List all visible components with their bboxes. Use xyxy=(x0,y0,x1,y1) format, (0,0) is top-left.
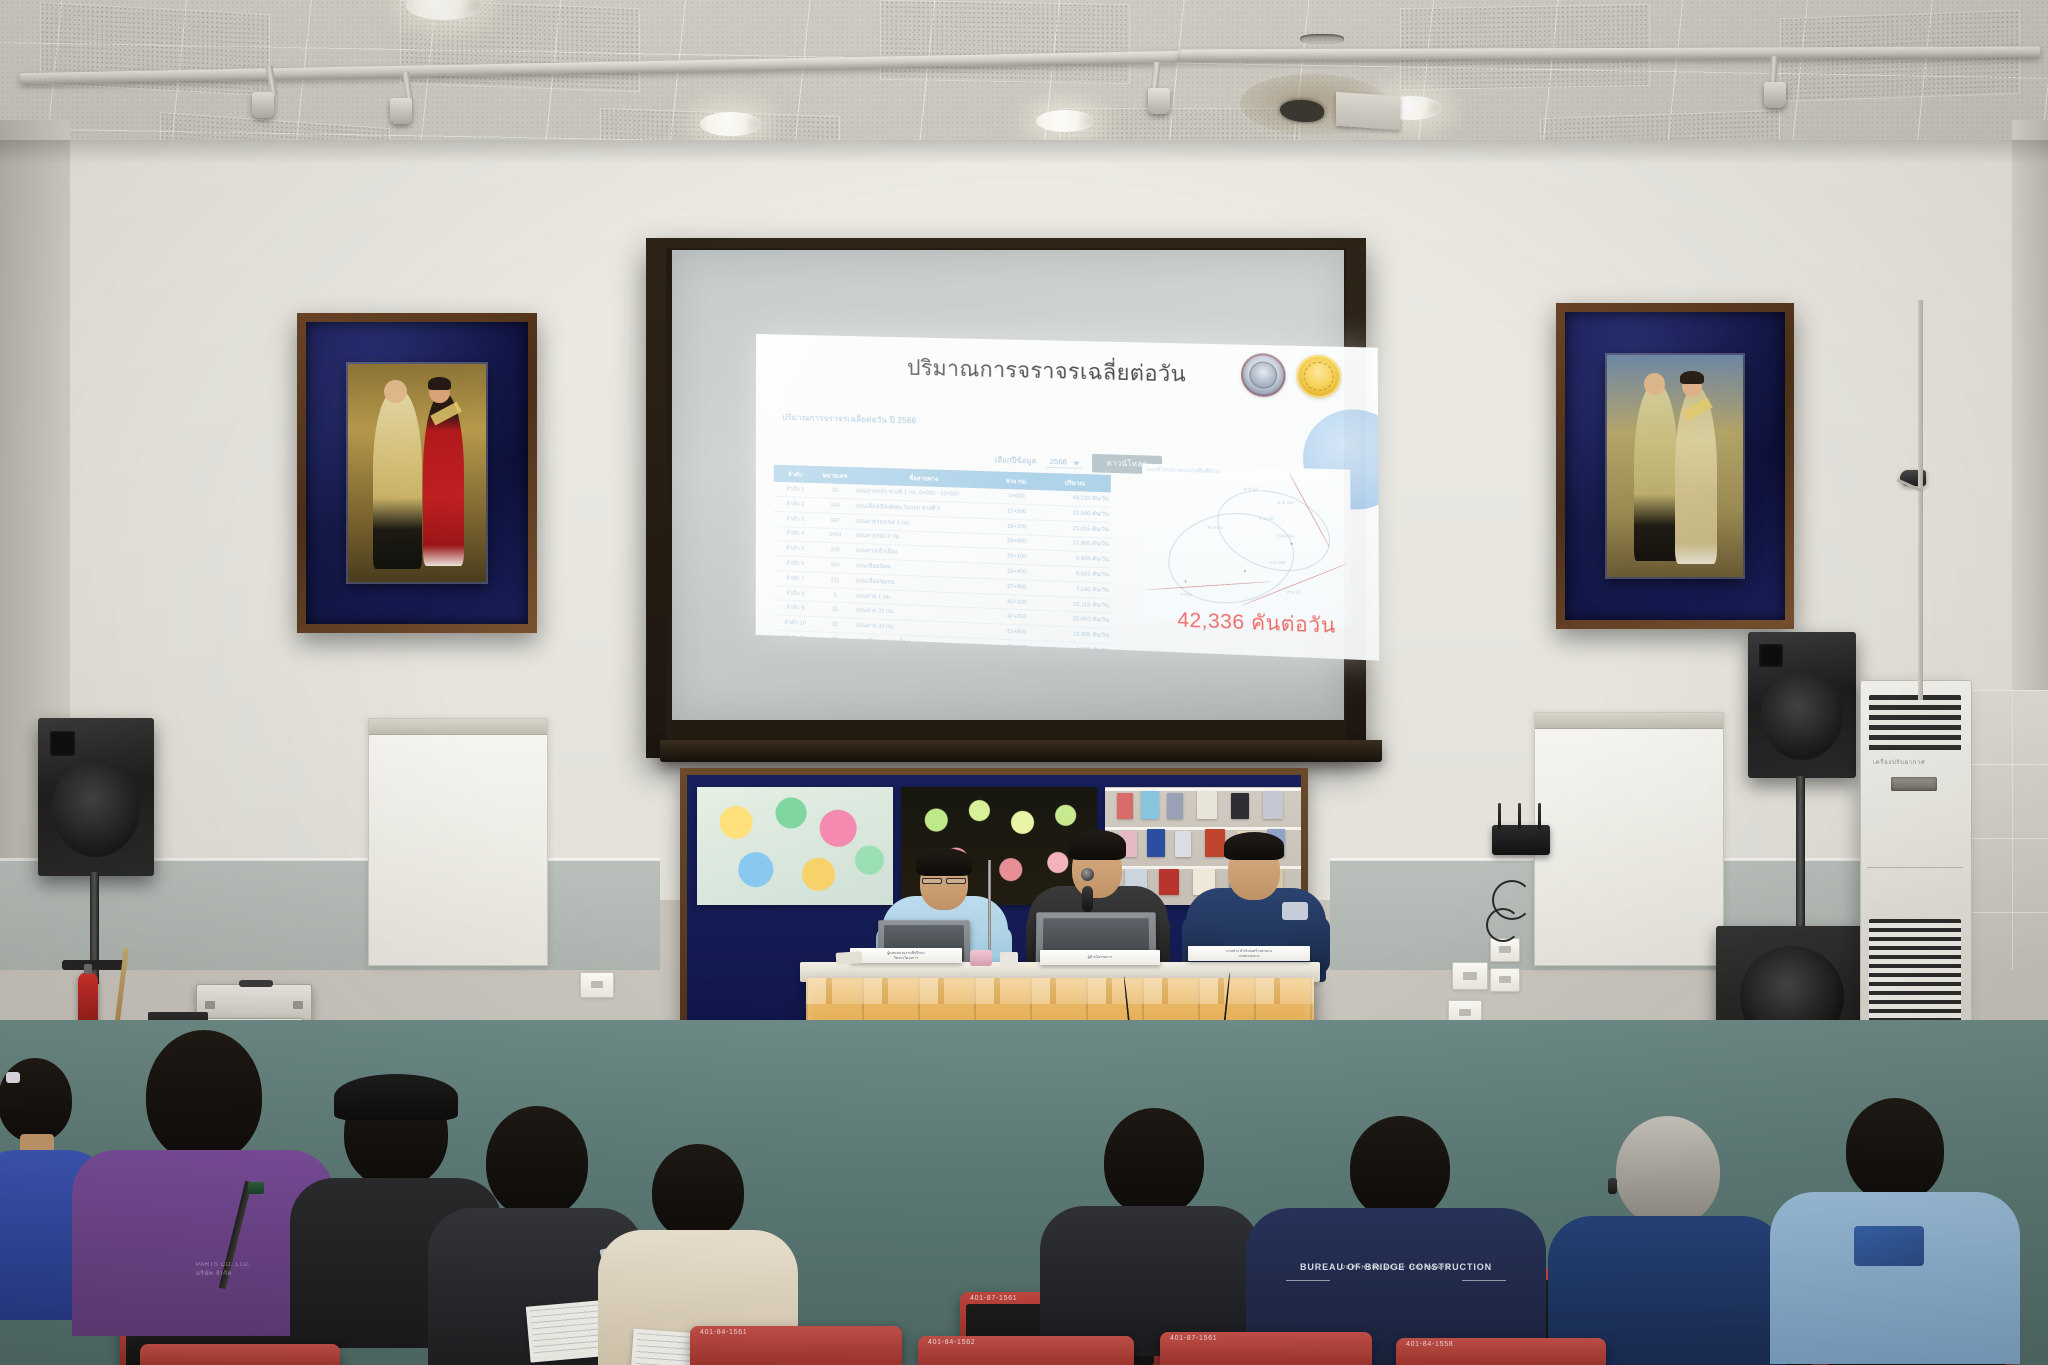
attendee-head xyxy=(486,1106,588,1218)
headset-icon xyxy=(1608,1178,1617,1194)
traffic-volume-table: ลำดับ หมายเลข ชื่อสายทาง ช่วง กม. ปริมาณ… xyxy=(774,465,1112,661)
badge-clip xyxy=(248,1182,264,1194)
router-antenna xyxy=(1518,803,1521,829)
nameplate-line2: วิศวกรโครงการ xyxy=(894,956,919,960)
chair-asset-tag: 401-84-1562 xyxy=(928,1339,975,1346)
glasses-icon xyxy=(946,878,966,884)
audience-chair-front[interactable]: 401-87-1561 xyxy=(1160,1332,1372,1365)
track-spotlight[interactable] xyxy=(1148,88,1170,114)
nameplate-left: ผู้แทนหน่วยงานที่ปรึกษา วิศวกรโครงการ xyxy=(850,948,962,963)
cell-km: 42+100 xyxy=(995,594,1039,611)
speaker-port xyxy=(1759,644,1783,667)
portrait-mat xyxy=(1565,312,1785,620)
track-spotlight[interactable] xyxy=(1764,82,1786,108)
wall-service-door-right[interactable] xyxy=(1534,712,1724,966)
chair-asset-tag: 401-87-1561 xyxy=(970,1295,1017,1302)
nameplate-center: ผู้ดำเนินรายการ xyxy=(1040,950,1160,965)
chair-asset-tag: 401-84-1561 xyxy=(700,1329,747,1336)
panelist-hair xyxy=(1068,830,1126,860)
route-network-map: แผนที่โครงข่ายถนนในพื้นที่ศึกษา สาย 32 ส… xyxy=(1142,464,1351,627)
track-spotlight[interactable] xyxy=(390,98,412,124)
ceiling-downlight xyxy=(700,112,762,136)
map-node xyxy=(1185,580,1187,582)
cell-km: 24+600 xyxy=(995,534,1039,551)
pa-speaker-left xyxy=(38,718,154,876)
wall-conduit xyxy=(1918,300,1923,700)
cell-index: ลำดับ 5 xyxy=(774,541,817,557)
glasses-icon xyxy=(922,878,942,884)
ceiling-air-vent xyxy=(1300,34,1344,44)
floor-standing-air-conditioner[interactable]: เครื่องปรับอากาศ xyxy=(1860,680,1972,1040)
portrait-figure-king xyxy=(373,390,423,568)
map-label: เขตเมือง xyxy=(1278,532,1295,540)
nameplate-line1: ผู้ดำเนินรายการ xyxy=(1088,955,1113,959)
attendee-head xyxy=(1846,1098,1944,1202)
year-filter-select[interactable]: 2566 xyxy=(1047,456,1082,469)
audience-chair-front[interactable]: 401-84-1558 xyxy=(1396,1338,1606,1365)
cell-route-no: 311 xyxy=(817,572,854,588)
case-latch[interactable] xyxy=(293,1001,303,1009)
column-header: ช่วง กม. xyxy=(995,471,1039,490)
screen-bottom-weight-bar xyxy=(660,740,1382,762)
shelf-product xyxy=(1141,791,1159,819)
case-handle[interactable] xyxy=(239,980,273,987)
year-filter-label: เลือกปีข้อมูล xyxy=(995,454,1036,467)
attendee-far-right xyxy=(1780,1098,2010,1364)
cell-index: ลำดับ 8 xyxy=(774,585,817,602)
portrait-hair xyxy=(1680,371,1703,384)
cup-on-table xyxy=(970,950,992,966)
average-daily-traffic-highlight: 42,336 คันต่อวัน xyxy=(1177,603,1336,642)
shelf-product xyxy=(1263,791,1283,819)
cell-km: 47+300 xyxy=(995,609,1039,626)
royal-portrait-right xyxy=(1556,303,1794,629)
speaker-stand-base xyxy=(62,960,126,970)
cell-km: 33+400 xyxy=(995,564,1039,581)
microphone-icon[interactable] xyxy=(1081,868,1094,881)
shirt-logo-patch xyxy=(1282,902,1308,920)
ac-louvers-bottom xyxy=(1869,919,1961,1027)
router-antenna xyxy=(1538,803,1541,829)
speaker-port xyxy=(50,731,76,756)
attendee-head xyxy=(146,1030,262,1162)
attendee-head xyxy=(1350,1116,1450,1220)
door-header-bar xyxy=(369,719,547,735)
shelf-product xyxy=(1167,793,1183,819)
router-antenna xyxy=(1498,803,1501,829)
map-label: ทางแยก xyxy=(1208,523,1224,531)
cell-index: ลำดับ 4 xyxy=(774,526,817,542)
cell-index: ลำดับ 3 xyxy=(774,511,817,527)
map-label: สาย 1 xyxy=(1180,590,1191,598)
cable-coil xyxy=(1486,908,1520,942)
hand-holding-microphone xyxy=(1082,886,1093,912)
map-label: สาย 309 xyxy=(1269,559,1286,567)
map-label: สาย 32 xyxy=(1243,485,1257,493)
cell-route-no: 33 xyxy=(817,617,854,633)
attendee-head xyxy=(0,1058,72,1142)
slide-subtitle: ปริมาณการจราจรเฉลี่ยต่อวัน ปี 2566 xyxy=(782,411,916,428)
right-wall-tiles xyxy=(1960,690,2048,970)
wifi-router[interactable] xyxy=(1492,825,1550,855)
panelist-hair xyxy=(916,848,972,876)
polo-print-text: PARTS CO.,LTD. บริษัท จำกัด xyxy=(196,1262,292,1286)
track-spotlight[interactable] xyxy=(252,92,274,118)
cell-index: ลำดับ 10 xyxy=(774,615,817,632)
cell-km: 18+200 xyxy=(995,518,1039,535)
wall-switch-plate[interactable] xyxy=(1490,968,1520,992)
cell-route-no: 32 xyxy=(817,483,854,499)
table-body: ลำดับ 132ถนนสายหลัก ช่วงที่ 1 กม. 0+000 … xyxy=(774,482,1112,661)
column-header: หมายเลข xyxy=(817,466,854,484)
audience-chair-front[interactable]: 401-84-1561 xyxy=(690,1326,902,1365)
shelf-product xyxy=(1197,791,1217,819)
conference-room-photo: ปริมาณการจราจรเฉลี่ยต่อวัน ปริมาณการจราจ… xyxy=(0,0,2048,1365)
nameplate-line2: กรมทางหลวง xyxy=(1239,954,1260,958)
chair-asset-tag: 401-87-1561 xyxy=(1170,1335,1217,1342)
map-node xyxy=(1291,543,1293,545)
agency-seal-logo xyxy=(1241,353,1286,397)
cell-index: ลำดับ 9 xyxy=(774,600,817,617)
speaker-stand-pole xyxy=(1796,776,1805,932)
attendee-head xyxy=(652,1144,744,1240)
royal-portrait-left xyxy=(297,313,537,633)
gold-seal-logo xyxy=(1296,354,1341,399)
portrait-image-left xyxy=(348,364,486,581)
backdrop-photo-balloons xyxy=(697,787,893,905)
jacket-rule xyxy=(1462,1280,1506,1281)
jacket-line-2: DEPARTMENT OF HIGHWAYS xyxy=(1246,1265,1546,1271)
cell-index: ลำดับ 7 xyxy=(774,571,817,588)
nameplate-right: นายช่าง สำนักก่อสร้างสะพาน กรมทางหลวง xyxy=(1188,946,1310,961)
audience-area: 401-84-1561 401-84-1562 401-87-1561 401-… xyxy=(0,1020,2048,1365)
door-header-bar xyxy=(1535,713,1723,729)
cell-index: ลำดับ 2 xyxy=(774,496,817,512)
ac-display-panel[interactable] xyxy=(1891,777,1937,791)
cell-route-no: 347 xyxy=(817,513,854,529)
projected-slide: ปริมาณการจราจรเฉลี่ยต่อวัน ปริมาณการจราจ… xyxy=(756,334,1379,661)
column-header: ลำดับ xyxy=(774,465,817,484)
ac-louvers-top xyxy=(1869,695,1961,751)
attendee-shoulders xyxy=(1770,1192,2020,1364)
wall-service-door-left[interactable] xyxy=(368,718,548,966)
ceiling-downlight xyxy=(1036,110,1094,132)
portrait-image-right xyxy=(1607,355,1743,577)
case-latch[interactable] xyxy=(205,1001,215,1009)
shelf-product xyxy=(1117,793,1133,819)
audience-chair-front[interactable] xyxy=(140,1344,340,1365)
paper-on-table xyxy=(836,951,863,965)
attendee-head xyxy=(1616,1116,1720,1226)
attendee-bridge-bureau: BUREAU OF BRIDGE CONSTRUCTION DEPARTMENT… xyxy=(1246,1116,1546,1365)
audience-chair-front[interactable]: 401-84-1562 xyxy=(918,1336,1134,1365)
attendee-head xyxy=(1104,1108,1204,1216)
map-node xyxy=(1244,570,1246,572)
cell-route-no: 3454 xyxy=(817,527,854,543)
attendee-right-headset xyxy=(1556,1116,1776,1365)
wall-dado-left xyxy=(0,860,660,970)
ceiling-patch-panel xyxy=(1336,92,1400,130)
shirt-graphic xyxy=(1854,1226,1924,1266)
paper-on-table xyxy=(1000,952,1018,966)
cell-route-no: 340 xyxy=(817,498,854,514)
cell-km: 29+100 xyxy=(995,549,1039,566)
cell-km: 12+500 xyxy=(995,503,1039,520)
jacket-rule xyxy=(1286,1280,1330,1281)
slide-title: ปริมาณการจราจรเฉลี่ยต่อวัน xyxy=(876,351,1217,393)
cell-route-no: 356 xyxy=(817,557,854,573)
map-label: สาย 347 xyxy=(1258,515,1275,523)
column-header: ปริมาณ xyxy=(1039,473,1111,493)
portrait-mat xyxy=(306,322,528,624)
fire-extinguisher[interactable] xyxy=(78,972,98,1026)
wall-outlet-plate[interactable] xyxy=(580,972,614,998)
map-label: สาย 340 xyxy=(1278,499,1295,507)
portrait-figure-king xyxy=(1634,384,1678,561)
slide-filter-bar: เลือกปีข้อมูล 2566 ดาวน์โหลด xyxy=(995,451,1163,474)
ceiling-tile xyxy=(880,0,1130,84)
portrait-hair xyxy=(428,377,451,390)
cell-index: ลำดับ 6 xyxy=(774,556,817,572)
cell-index: ลำดับ 1 xyxy=(774,482,817,498)
ac-brand-label: เครื่องปรับอากาศ xyxy=(1873,757,1925,767)
map-caption: แผนที่โครงข่ายถนนในพื้นที่ศึกษา xyxy=(1146,466,1221,476)
map-label: สาย 33 xyxy=(1286,588,1300,596)
wall-outlet-plate[interactable] xyxy=(1452,962,1488,990)
ac-panel-seam xyxy=(1867,867,1963,868)
cell-km: 37+900 xyxy=(995,579,1039,596)
attendee-center xyxy=(1050,1108,1250,1348)
chair-asset-tag: 401-84-1558 xyxy=(1406,1341,1453,1348)
cell-route-no: 32 xyxy=(817,602,854,618)
shelf-product xyxy=(1231,793,1249,819)
cell-route-no: 309 xyxy=(817,542,854,558)
cell-km: 0+000 xyxy=(995,489,1039,505)
hair-clip xyxy=(6,1072,20,1083)
wall-soffit-shadow xyxy=(0,140,2048,164)
cell-route-no: 1 xyxy=(817,587,854,603)
panelist-hair xyxy=(1224,832,1284,860)
pa-speaker-right xyxy=(1748,632,1856,778)
